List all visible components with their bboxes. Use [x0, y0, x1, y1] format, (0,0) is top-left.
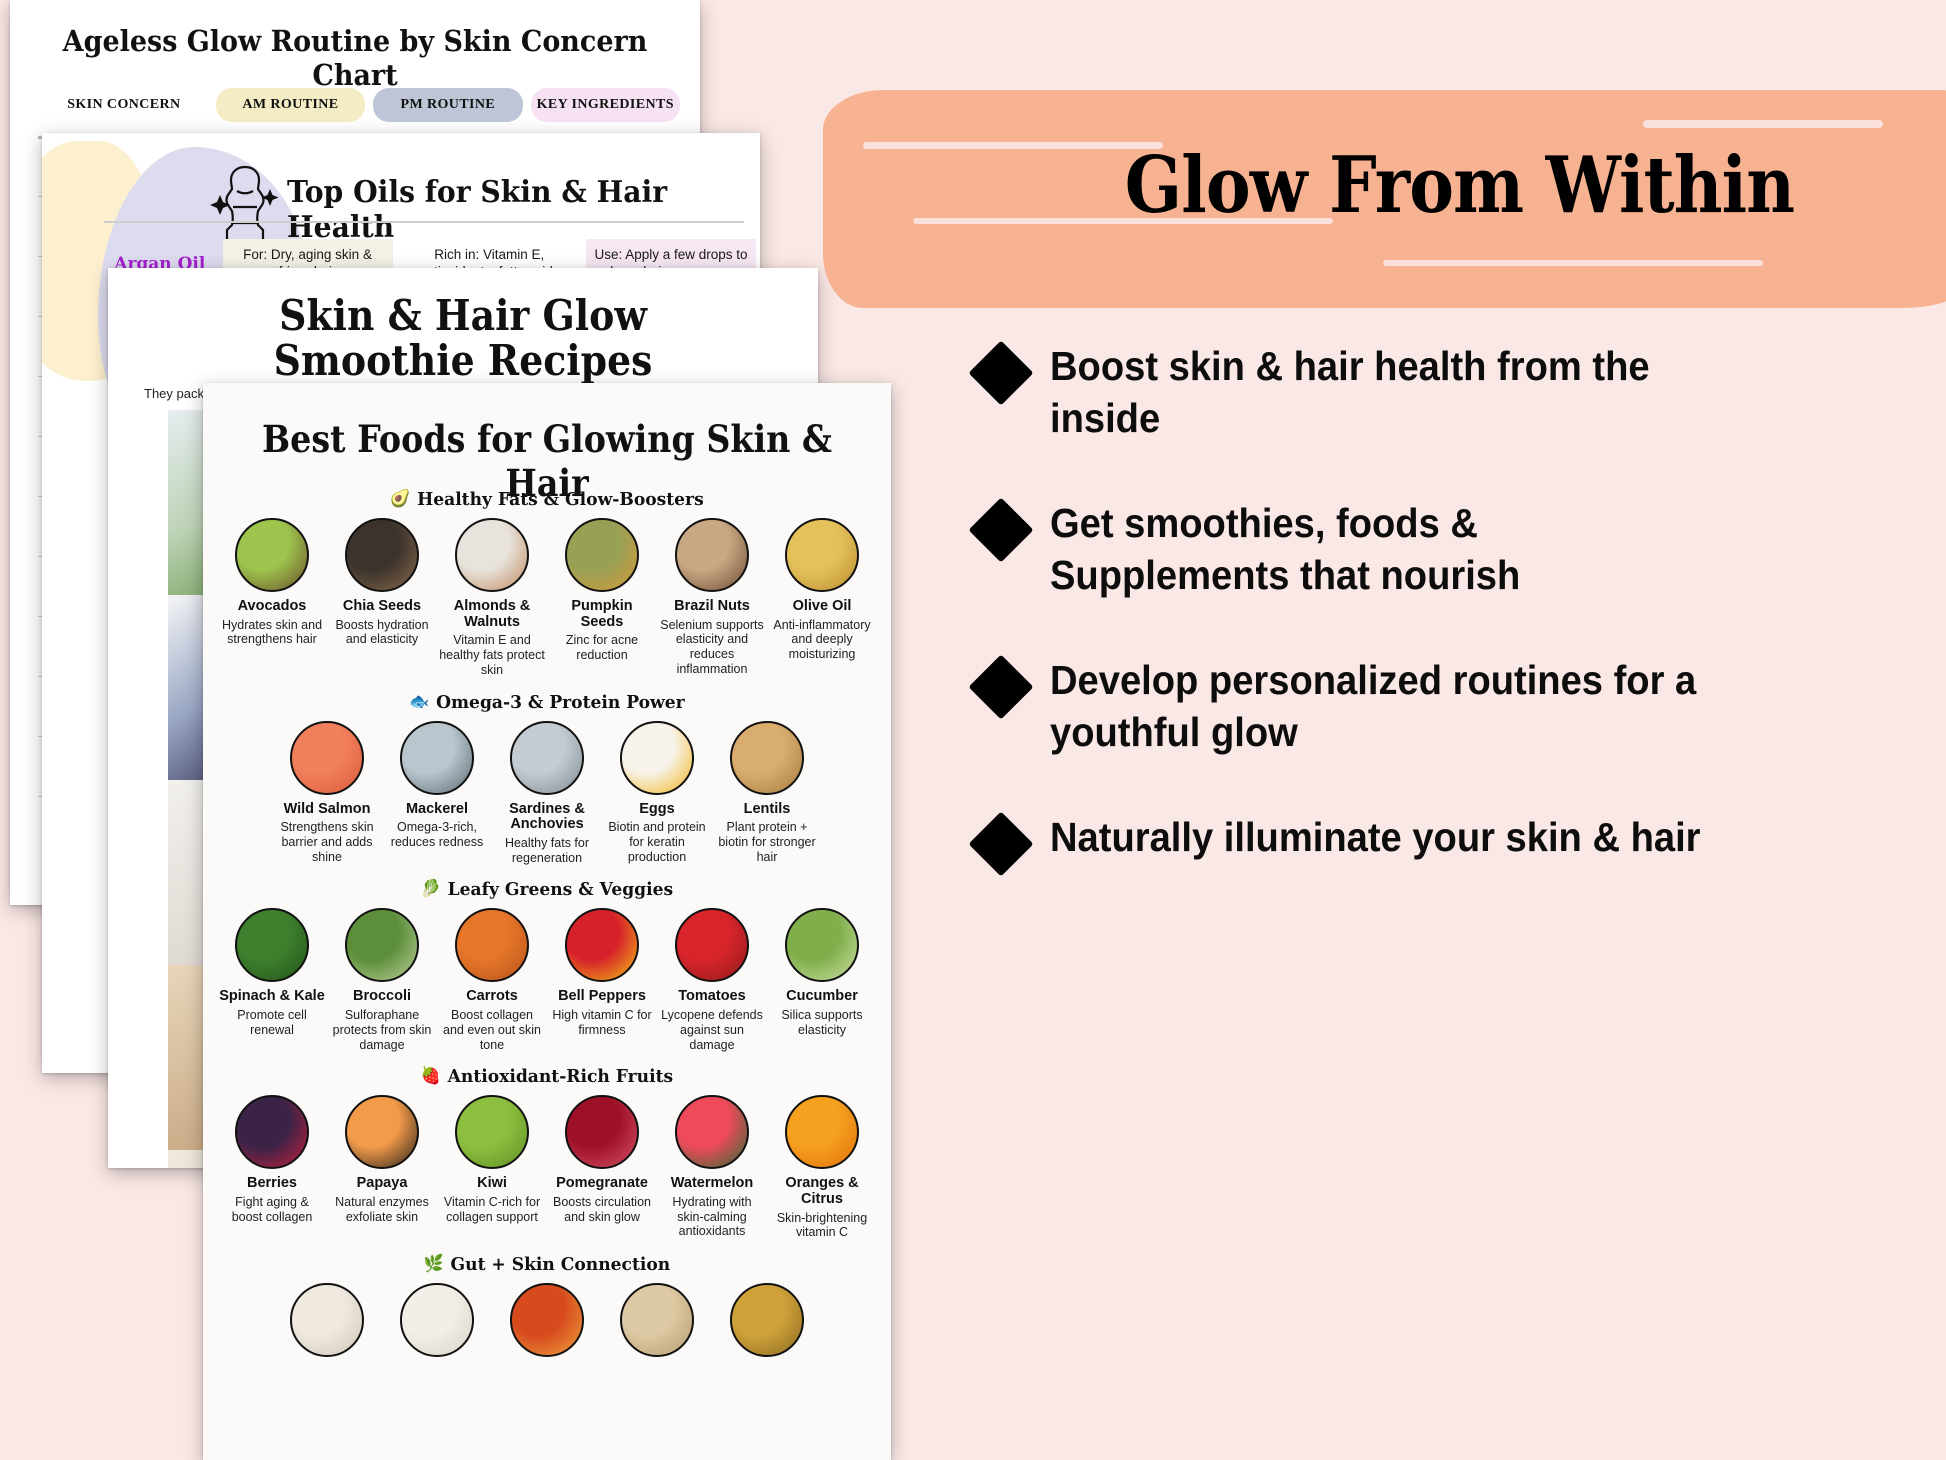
promo-bullet-item: Naturally illuminate your skin & hair	[918, 811, 1928, 867]
food-name: Pomegranate	[549, 1176, 655, 1192]
diamond-bullet-icon	[968, 654, 1033, 719]
food-description: Biotin and protein for keratin productio…	[604, 820, 710, 864]
promo-panel: Glow From Within Boost skin & hair healt…	[973, 0, 1946, 1460]
food-item[interactable]	[714, 1283, 820, 1364]
foods-section-label: Gut + Skin Connection	[451, 1254, 671, 1275]
food-item[interactable]: LentilsPlant protein + biotin for strong…	[714, 721, 820, 866]
food-description: Healthy fats for regeneration	[494, 836, 600, 866]
food-description: Silica supports elasticity	[769, 1008, 875, 1038]
food-name: Papaya	[329, 1176, 435, 1192]
smoothie-sheet-title: Skin & Hair Glow Smoothie Recipes	[144, 294, 783, 384]
food-item[interactable]: Brazil NutsSelenium supports elasticity …	[659, 518, 765, 678]
foods-section-label: Antioxidant-Rich Fruits	[448, 1066, 673, 1087]
food-name: Chia Seeds	[329, 599, 435, 615]
food-description: Skin-brightening vitamin C	[769, 1211, 875, 1241]
poster-canvas: Ageless Glow Routine by Skin Concern Cha…	[0, 0, 1946, 1460]
diamond-bullet-icon	[968, 811, 1033, 876]
food-item[interactable]: Pumpkin SeedsZinc for acne reduction	[549, 518, 655, 678]
food-thumbnail	[675, 1095, 749, 1169]
smoothie-title-line1: Skin & Hair Glow	[279, 291, 647, 340]
chart-col-2: PM ROUTINE	[373, 88, 522, 122]
food-item[interactable]: EggsBiotin and protein for keratin produ…	[604, 721, 710, 866]
food-item[interactable]: Olive OilAnti-inflammatory and deeply mo…	[769, 518, 875, 678]
food-item[interactable]: Almonds & WalnutsVitamin E and healthy f…	[439, 518, 545, 678]
food-thumbnail	[235, 518, 309, 592]
food-item[interactable]: MackerelOmega-3-rich, reduces redness	[384, 721, 490, 866]
food-description: Omega-3-rich, reduces redness	[384, 820, 490, 850]
food-name: Tomatoes	[659, 989, 765, 1005]
food-thumbnail	[565, 908, 639, 982]
food-name: Berries	[219, 1176, 325, 1192]
foods-section-heading: 🐟Omega-3 & Protein Power	[220, 692, 874, 713]
food-description: Selenium supports elasticity and reduces…	[659, 618, 765, 677]
food-description: Vitamin C-rich for collagen support	[439, 1195, 545, 1225]
food-item[interactable]: Oranges & CitrusSkin-brightening vitamin…	[769, 1095, 875, 1240]
food-thumbnail	[730, 721, 804, 795]
food-thumbnail	[620, 721, 694, 795]
food-item[interactable]	[604, 1283, 710, 1364]
promo-title: Glow From Within	[1041, 140, 1878, 231]
food-description: Zinc for acne reduction	[549, 633, 655, 663]
promo-bullet-text: Naturally illuminate your skin & hair	[1050, 811, 1701, 863]
promo-bullet-text: Get smoothies, foods & Supplements that …	[1050, 497, 1701, 602]
smoothie-title-line2: Smoothie Recipes	[274, 336, 653, 385]
promo-bullet-list: Boost skin & hair health from the inside…	[918, 340, 1928, 919]
food-name: Oranges & Citrus	[769, 1176, 875, 1207]
leafy-green-icon: 🥬	[421, 881, 441, 898]
food-item[interactable]: Wild SalmonStrengthens skin barrier and …	[274, 721, 380, 866]
food-name: Watermelon	[659, 1176, 765, 1192]
food-thumbnail	[235, 1095, 309, 1169]
promo-bullet-item: Boost skin & hair health from the inside	[918, 340, 1928, 445]
food-item[interactable]: Spinach & KalePromote cell renewal	[219, 908, 325, 1052]
food-description: Promote cell renewal	[219, 1008, 325, 1038]
food-thumbnail	[785, 518, 859, 592]
food-thumbnail	[675, 518, 749, 592]
food-item[interactable]: PomegranateBoosts circulation and skin g…	[549, 1095, 655, 1240]
food-name: Carrots	[439, 989, 545, 1005]
food-description: Fight aging & boost collagen	[219, 1195, 325, 1225]
food-description: Hydrates skin and strengthens hair	[219, 618, 325, 648]
food-item[interactable]: KiwiVitamin C-rich for collagen support	[439, 1095, 545, 1240]
food-thumbnail	[730, 1283, 804, 1357]
food-description: Sulforaphane protects from skin damage	[329, 1008, 435, 1052]
chart-col-3: KEY INGREDIENTS	[531, 88, 680, 122]
oils-header-rule	[104, 221, 744, 223]
food-description: Natural enzymes exfoliate skin	[329, 1195, 435, 1225]
foods-section-heading: 🍓Antioxidant-Rich Fruits	[220, 1066, 874, 1087]
food-name: Pumpkin Seeds	[549, 599, 655, 630]
food-item[interactable]: Sardines & AnchoviesHealthy fats for reg…	[494, 721, 600, 866]
food-thumbnail	[290, 1283, 364, 1357]
foods-row: BerriesFight aging & boost collagenPapay…	[203, 1095, 891, 1240]
food-item[interactable]: PapayaNatural enzymes exfoliate skin	[329, 1095, 435, 1240]
food-name: Lentils	[714, 802, 820, 818]
oils-sheet-title: Top Oils for Skin & Hair Health	[287, 175, 732, 245]
woman-face-mask-icon	[207, 161, 283, 251]
strawberry-icon: 🍓	[421, 1068, 441, 1085]
promo-bullet-text: Boost skin & hair health from the inside	[1050, 340, 1701, 445]
food-thumbnail	[400, 721, 474, 795]
food-thumbnail	[565, 1095, 639, 1169]
foods-row: Wild SalmonStrengthens skin barrier and …	[203, 721, 891, 866]
food-thumbnail	[290, 721, 364, 795]
food-name: Spinach & Kale	[219, 989, 325, 1005]
food-thumbnail	[675, 908, 749, 982]
food-thumbnail	[455, 1095, 529, 1169]
food-description: High vitamin C for firmness	[549, 1008, 655, 1038]
herb-sprig-icon: 🌿	[424, 1256, 444, 1273]
foods-row	[203, 1283, 891, 1364]
food-description: Plant protein + biotin for stronger hair	[714, 820, 820, 864]
food-description: Vitamin E and healthy fats protect skin	[439, 633, 545, 677]
food-thumbnail	[345, 908, 419, 982]
food-thumbnail	[455, 908, 529, 982]
sheet-best-foods[interactable]: Best Foods for Glowing Skin & Hair 🥑Heal…	[203, 383, 891, 1460]
food-thumbnail	[785, 1095, 859, 1169]
food-name: Broccoli	[329, 989, 435, 1005]
food-thumbnail	[400, 1283, 474, 1357]
food-description: Boosts hydration and elasticity	[329, 618, 435, 648]
foods-section-heading: 🌿Gut + Skin Connection	[220, 1254, 874, 1275]
chart-col-1: AM ROUTINE	[216, 88, 365, 122]
food-item[interactable]: WatermelonHydrating with skin-calming an…	[659, 1095, 765, 1240]
food-thumbnail	[510, 721, 584, 795]
avocado-icon: 🥑	[390, 491, 410, 508]
food-thumbnail	[510, 1283, 584, 1357]
food-item[interactable]: CucumberSilica supports elasticity	[769, 908, 875, 1052]
food-name: Almonds & Walnuts	[439, 599, 545, 630]
foods-row: Spinach & KalePromote cell renewalBrocco…	[203, 908, 891, 1052]
food-item[interactable]	[384, 1283, 490, 1364]
promo-bullet-item: Develop personalized routines for a yout…	[918, 654, 1928, 759]
food-name: Olive Oil	[769, 599, 875, 615]
food-thumbnail	[345, 518, 419, 592]
promo-bullet-text: Develop personalized routines for a yout…	[1050, 654, 1701, 759]
food-item[interactable]: Chia SeedsBoosts hydration and elasticit…	[329, 518, 435, 678]
promo-bullet-item: Get smoothies, foods & Supplements that …	[918, 497, 1928, 602]
food-description: Lycopene defends against sun damage	[659, 1008, 765, 1052]
chart-sheet-title: Ageless Glow Routine by Skin Concern Cha…	[34, 24, 676, 92]
food-description: Boosts circulation and skin glow	[549, 1195, 655, 1225]
food-thumbnail	[345, 1095, 419, 1169]
foods-section-label: Omega-3 & Protein Power	[436, 692, 685, 713]
food-name: Sardines & Anchovies	[494, 802, 600, 833]
food-name: Wild Salmon	[274, 802, 380, 818]
foods-section-heading: 🥑Healthy Fats & Glow-Boosters	[220, 489, 874, 510]
chart-column-headers: SKIN CONCERN AM ROUTINE PM ROUTINE KEY I…	[40, 88, 680, 122]
food-item[interactable]: TomatoesLycopene defends against sun dam…	[659, 908, 765, 1052]
foods-section-label: Healthy Fats & Glow-Boosters	[417, 489, 704, 510]
food-name: Kiwi	[439, 1176, 545, 1192]
food-item[interactable]: AvocadosHydrates skin and strengthens ha…	[219, 518, 325, 678]
food-item[interactable]	[494, 1283, 600, 1364]
foods-section-heading: 🥬Leafy Greens & Veggies	[220, 879, 874, 900]
food-description: Boost collagen and even out skin tone	[439, 1008, 545, 1052]
foods-section-label: Leafy Greens & Veggies	[448, 879, 674, 900]
foods-row: AvocadosHydrates skin and strengthens ha…	[203, 518, 891, 678]
food-name: Eggs	[604, 802, 710, 818]
food-name: Mackerel	[384, 802, 490, 818]
food-name: Bell Peppers	[549, 989, 655, 1005]
chart-col-0: SKIN CONCERN	[40, 88, 208, 122]
food-name: Brazil Nuts	[659, 599, 765, 615]
food-description: Anti-inflammatory and deeply moisturizin…	[769, 618, 875, 662]
foods-sections: 🥑Healthy Fats & Glow-BoostersAvocadosHyd…	[203, 475, 891, 1364]
food-description: Hydrating with skin-calming antioxidants	[659, 1195, 765, 1239]
food-item[interactable]: BroccoliSulforaphane protects from skin …	[329, 908, 435, 1052]
food-thumbnail	[565, 518, 639, 592]
fish-icon: 🐟	[409, 694, 429, 711]
diamond-bullet-icon	[968, 340, 1033, 405]
food-item[interactable]: BerriesFight aging & boost collagen	[219, 1095, 325, 1240]
food-name: Avocados	[219, 599, 325, 615]
food-thumbnail	[620, 1283, 694, 1357]
food-thumbnail	[785, 908, 859, 982]
food-thumbnail	[235, 908, 309, 982]
diamond-bullet-icon	[968, 497, 1033, 562]
food-description: Strengthens skin barrier and adds shine	[274, 820, 380, 864]
food-thumbnail	[455, 518, 529, 592]
food-name: Cucumber	[769, 989, 875, 1005]
food-item[interactable]: CarrotsBoost collagen and even out skin …	[439, 908, 545, 1052]
food-item[interactable]	[274, 1283, 380, 1364]
food-item[interactable]: Bell PeppersHigh vitamin C for firmness	[549, 908, 655, 1052]
smoothie-intro-text: They pack	[144, 386, 204, 401]
